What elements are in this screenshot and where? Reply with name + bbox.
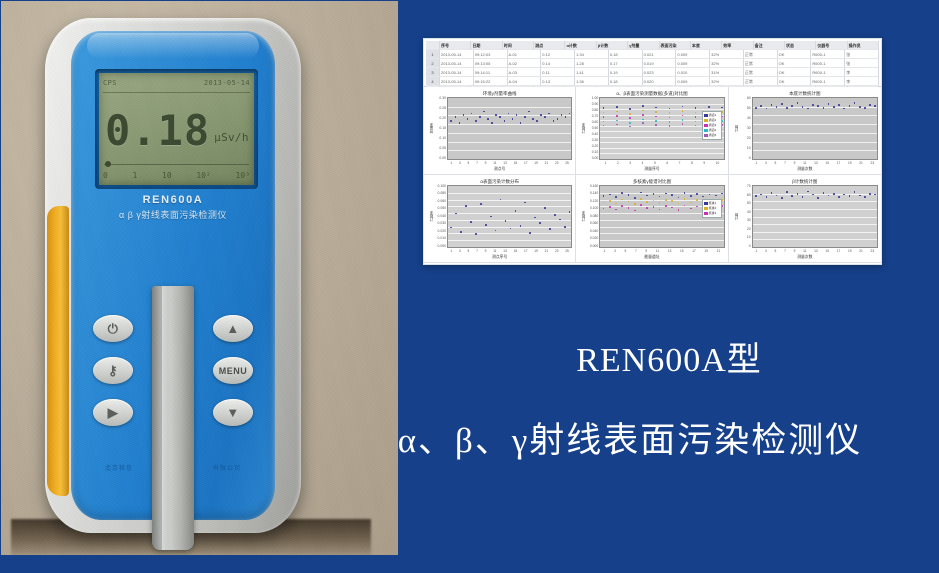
table-cell: 正常 bbox=[744, 59, 778, 68]
chart-data-point bbox=[653, 200, 655, 202]
chart-data-point bbox=[642, 110, 644, 112]
chart-x-axis-label: 测量序号 bbox=[579, 166, 724, 172]
chart-data-point bbox=[565, 116, 567, 118]
down-button[interactable]: ▼ bbox=[213, 399, 253, 426]
x-tick-label: 11 bbox=[803, 161, 806, 165]
x-tick-label: 1 bbox=[450, 249, 452, 253]
chart-x-axis-label: 测点号 bbox=[427, 166, 572, 172]
lcd-value: 0.18 bbox=[105, 111, 210, 151]
chart-y-ticks: 0.1600.1400.1200.1000.0800.0600.0400.020… bbox=[586, 185, 599, 248]
lcd-scale: 0 1 10 10² 10³ bbox=[103, 171, 250, 183]
chart-x-axis-label: 测点序号 bbox=[427, 254, 572, 260]
chart-data-point bbox=[755, 107, 757, 109]
chart-data-point bbox=[634, 197, 636, 199]
x-tick-label: 9 bbox=[485, 161, 487, 165]
chart-data-point bbox=[609, 200, 611, 202]
chart-gridline bbox=[448, 133, 571, 134]
table-cell: 测点 bbox=[534, 41, 565, 50]
table-cell: 仪器号 bbox=[816, 41, 847, 50]
chart-panel[interactable]: 多核素γ能谱对比图计数率0.1600.1400.1200.1000.0800.0… bbox=[576, 175, 728, 263]
y-tick-label: 0.40 bbox=[592, 133, 599, 136]
chart-data-point bbox=[653, 206, 655, 208]
table-cell: 正常 bbox=[744, 50, 778, 59]
chart-gridline bbox=[753, 115, 877, 116]
y-tick-label: 0.080 bbox=[590, 215, 599, 218]
chart-data-point bbox=[869, 193, 871, 195]
chart-data-point bbox=[665, 205, 667, 207]
chart-y-ticks: 0.300.250.200.150.100.050.00 bbox=[434, 97, 447, 160]
chart-plot-area: 通道1通道2通道3通道4通道5 bbox=[599, 97, 724, 160]
table-cell: 0.13 bbox=[541, 77, 575, 86]
play-button[interactable]: ▶ bbox=[93, 399, 133, 426]
table-cell: 09:12:03 bbox=[474, 50, 508, 59]
x-tick-label: 15 bbox=[680, 249, 684, 253]
strap-highlight bbox=[162, 286, 170, 550]
chart-data-point bbox=[812, 104, 814, 106]
chart-data-point bbox=[843, 108, 845, 110]
data-table: 序号日期时间测点α计数β计数γ剂量表面污染本底效率备注状态仪器号操作员12013… bbox=[424, 39, 881, 87]
y-tick-label: 50 bbox=[747, 202, 751, 205]
chart-data-point bbox=[669, 112, 671, 114]
chart-body: 计数706050403020100 bbox=[732, 185, 878, 248]
table-cell: 0.18 bbox=[609, 77, 643, 86]
legend-swatch bbox=[704, 134, 708, 137]
legend-swatch bbox=[704, 207, 708, 210]
chart-data-point bbox=[549, 228, 551, 230]
chart-gridline bbox=[600, 142, 723, 143]
y-tick-label: 0.000 bbox=[438, 245, 447, 248]
up-button[interactable]: ▲ bbox=[213, 315, 253, 342]
chart-y-axis-label: 剂量率 bbox=[427, 97, 434, 160]
chart-data-point bbox=[682, 106, 684, 108]
table-cell: 张 bbox=[845, 59, 879, 68]
x-tick-label: 13 bbox=[814, 161, 818, 165]
chart-data-point bbox=[515, 210, 517, 212]
y-tick-label: 60 bbox=[747, 194, 751, 197]
table-cell: 09:14:11 bbox=[474, 68, 508, 77]
chart-data-point bbox=[682, 110, 684, 112]
lcd-status-left: CPS bbox=[103, 79, 117, 87]
x-tick-label: 17 bbox=[524, 161, 528, 165]
table-header-row: 序号日期时间测点α计数β计数γ剂量表面污染本底效率备注状态仪器号操作员 bbox=[426, 41, 879, 50]
chart-data-point bbox=[557, 118, 559, 120]
chart-data-point bbox=[833, 193, 835, 195]
chart-data-point bbox=[465, 205, 467, 207]
table-row-index: 3 bbox=[426, 68, 440, 77]
chart-data-point bbox=[603, 112, 605, 114]
chart-gridline bbox=[600, 227, 723, 228]
chart-data-point bbox=[874, 105, 876, 107]
x-tick-label: 13 bbox=[503, 161, 507, 165]
chart-data-point bbox=[634, 210, 636, 212]
chart-data-point bbox=[553, 120, 555, 122]
chart-data-point bbox=[628, 194, 630, 196]
chart-data-point bbox=[807, 108, 809, 110]
chart-x-axis-label: 测量次数 bbox=[732, 254, 878, 260]
faceplate-highlight bbox=[87, 33, 258, 59]
chevron-down-icon: ▼ bbox=[226, 406, 239, 419]
menu-button-label: MENU bbox=[219, 366, 248, 376]
lcd-scale-tick: 10³ bbox=[236, 171, 250, 183]
chart-data-point bbox=[475, 233, 477, 235]
chart-data-point bbox=[483, 111, 485, 113]
legend-swatch bbox=[704, 212, 708, 215]
x-tick-label: 15 bbox=[514, 249, 518, 253]
chart-plot-area: 核素1核素2核素3 bbox=[599, 185, 724, 248]
chart-data-point bbox=[659, 196, 661, 198]
x-tick-label: 11 bbox=[493, 249, 496, 253]
chart-data-point bbox=[843, 194, 845, 196]
y-tick-label: 0.080 bbox=[438, 192, 447, 195]
chart-gridline bbox=[753, 209, 877, 210]
chart-legend: 通道1通道2通道3通道4通道5 bbox=[702, 111, 722, 140]
table-cell: OK bbox=[778, 50, 812, 59]
chart-panel[interactable]: α、β表面污染测量数据(多道)对比图计数率1.000.900.800.700.6… bbox=[576, 87, 728, 175]
chart-data-point bbox=[669, 125, 671, 127]
x-tick-label: 9 bbox=[794, 249, 796, 253]
y-axis-label-text: 计数 bbox=[733, 125, 738, 132]
y-tick-label: 0 bbox=[749, 245, 751, 248]
x-tick-label: 17 bbox=[524, 249, 528, 253]
table-cell: 32% bbox=[710, 59, 744, 68]
x-tick-label: 11 bbox=[656, 249, 659, 253]
chart-data-point bbox=[564, 226, 566, 228]
x-tick-label: 7 bbox=[784, 249, 786, 253]
chart-data-point bbox=[540, 114, 542, 116]
table-cell: 张 bbox=[845, 50, 879, 59]
y-tick-label: 0.050 bbox=[438, 207, 447, 210]
chart-data-point bbox=[495, 230, 497, 232]
chart-data-point bbox=[690, 195, 692, 197]
table-cell: 2013-05-14 bbox=[440, 77, 474, 86]
chart-data-point bbox=[874, 194, 876, 196]
chart-gridline bbox=[448, 142, 571, 143]
chart-data-point bbox=[690, 208, 692, 210]
y-tick-label: 0.60 bbox=[592, 121, 599, 124]
lcd-scale-tick: 1 bbox=[133, 171, 138, 183]
chart-body: 计数6050403020100 bbox=[732, 97, 878, 160]
x-tick-label: 17 bbox=[692, 249, 696, 253]
x-tick-label: 19 bbox=[534, 161, 538, 165]
y-tick-label: 0.140 bbox=[590, 192, 599, 195]
table-cell: 32% bbox=[710, 77, 744, 86]
chart-data-point bbox=[781, 103, 783, 105]
chart-y-ticks: 1.000.900.800.700.600.500.400.300.200.10… bbox=[586, 97, 599, 160]
y-tick-label: 0.00 bbox=[592, 157, 599, 160]
chart-data-point bbox=[524, 116, 526, 118]
chart-title: 本底计数统计图 bbox=[732, 90, 878, 97]
table-row: 22013-05-1409:13:05A-020.141.280.170.019… bbox=[426, 59, 879, 68]
legend-label: 通道5 bbox=[709, 133, 717, 138]
chart-gridline bbox=[753, 239, 877, 240]
table-cell: 本底 bbox=[691, 41, 722, 50]
chart-data-point bbox=[791, 195, 793, 197]
y-tick-label: 1.00 bbox=[592, 97, 599, 100]
table-cell: 表面污染 bbox=[660, 41, 691, 50]
chart-data-point bbox=[495, 114, 497, 116]
x-tick-label: 15 bbox=[825, 161, 829, 165]
product-photo: CPS 2013-05-14 0.18 µSv/h bbox=[1, 1, 398, 555]
chart-data-point bbox=[460, 231, 462, 233]
lcd-unit: µSv/h bbox=[214, 131, 249, 144]
chart-data-point bbox=[520, 225, 522, 227]
key-button[interactable]: ⚷ bbox=[93, 357, 133, 384]
menu-button[interactable]: MENU bbox=[213, 357, 253, 384]
chart-data-point bbox=[695, 116, 697, 118]
chart-panel[interactable]: 本底计数统计图计数6050403020100135791113151719212… bbox=[729, 87, 881, 175]
chart-gridline bbox=[600, 233, 723, 234]
chart-data-point bbox=[708, 106, 710, 108]
chart-data-point bbox=[678, 197, 680, 199]
chart-data-point bbox=[569, 113, 571, 115]
chart-gridline bbox=[448, 213, 571, 214]
chart-data-point bbox=[659, 209, 661, 211]
chart-data-point bbox=[450, 120, 452, 122]
chart-data-point bbox=[487, 118, 489, 120]
y-tick-label: 0.80 bbox=[592, 109, 599, 112]
x-tick-label: 5 bbox=[468, 161, 470, 165]
radiation-detector-device: CPS 2013-05-14 0.18 µSv/h bbox=[45, 18, 301, 533]
x-tick-label: 5 bbox=[775, 249, 777, 253]
table-cell: 状态 bbox=[785, 41, 816, 50]
y-tick-label: 0.010 bbox=[438, 237, 447, 240]
lcd-bargraph-marker bbox=[105, 161, 111, 167]
chart-data-point bbox=[628, 207, 630, 209]
chart-gridline bbox=[753, 124, 877, 125]
slide-root: CPS 2013-05-14 0.18 µSv/h bbox=[0, 0, 939, 573]
table-cell: R600-1 bbox=[811, 50, 845, 59]
y-tick-label: 0.120 bbox=[590, 200, 599, 203]
y-tick-label: 0.00 bbox=[439, 157, 446, 160]
y-tick-label: 0.30 bbox=[439, 97, 446, 100]
y-tick-label: 0.040 bbox=[438, 215, 447, 218]
chart-data-point bbox=[455, 116, 457, 118]
footer-mark-left: 北京核信 bbox=[105, 463, 133, 472]
table-row: 32013-05-1409:14:11A-030.111.410.190.023… bbox=[426, 68, 879, 77]
chart-data-point bbox=[695, 112, 697, 114]
chart-data-point bbox=[629, 117, 631, 119]
chart-data-point bbox=[642, 105, 644, 107]
y-tick-label: 0.90 bbox=[592, 103, 599, 106]
legend-swatch bbox=[704, 202, 708, 205]
chart-data-point bbox=[640, 204, 642, 206]
table-cell: 效率 bbox=[722, 41, 753, 50]
right-panel: 序号日期时间测点α计数β计数γ剂量表面污染本底效率备注状态仪器号操作员12013… bbox=[399, 0, 939, 573]
chart-gridline bbox=[448, 220, 571, 221]
table-cell: A-02 bbox=[508, 59, 542, 68]
power-button[interactable]: ⏻ bbox=[93, 315, 133, 342]
chart-title: 环境γ剂量率曲线 bbox=[427, 90, 572, 97]
x-tick-label: 21 bbox=[545, 249, 549, 253]
table-cell: 日期 bbox=[471, 41, 502, 50]
table-cell: α计数 bbox=[565, 41, 596, 50]
chart-data-point bbox=[781, 197, 783, 199]
chart-data-point bbox=[690, 202, 692, 204]
chart-data-point bbox=[646, 201, 648, 203]
chart-panel[interactable]: 环境γ剂量率曲线剂量率0.300.250.200.150.100.050.001… bbox=[424, 87, 576, 175]
chart-data-point bbox=[859, 106, 861, 108]
chart-gridline bbox=[448, 107, 571, 108]
chart-data-point bbox=[838, 104, 840, 106]
chart-gridline bbox=[600, 220, 723, 221]
y-tick-label: 50 bbox=[747, 107, 751, 110]
x-tick-label: 1 bbox=[756, 249, 758, 253]
lcd-scale-tick: 10² bbox=[196, 171, 210, 183]
x-tick-label: 21 bbox=[859, 249, 863, 253]
x-tick-label: 3 bbox=[614, 249, 616, 253]
chart-y-axis-label: 计数率 bbox=[579, 97, 586, 160]
chart-title: β计数统计图 bbox=[732, 178, 878, 185]
chart-data-point bbox=[646, 195, 648, 197]
x-tick-label: 23 bbox=[871, 161, 875, 165]
table-cell: OK bbox=[778, 68, 812, 77]
chart-gridline bbox=[448, 150, 571, 151]
chart-data-point bbox=[760, 105, 762, 107]
table-cell: 0.18 bbox=[609, 50, 643, 59]
chart-y-axis-label: 计数率 bbox=[579, 185, 586, 248]
chart-legend: 核素1核素2核素3 bbox=[702, 199, 722, 218]
y-tick-label: 0.030 bbox=[438, 222, 447, 225]
lcd-scale-tick: 0 bbox=[103, 171, 108, 183]
chart-data-point bbox=[459, 122, 461, 124]
chart-data-point bbox=[655, 124, 657, 126]
table-cell: 正常 bbox=[744, 77, 778, 86]
x-tick-label: 23 bbox=[555, 249, 559, 253]
chart-gridline bbox=[448, 240, 571, 241]
chart-data-point bbox=[615, 209, 617, 211]
chart-data-point bbox=[802, 196, 804, 198]
chart-data-point bbox=[646, 207, 648, 209]
chart-gridline bbox=[753, 217, 877, 218]
chart-data-point bbox=[470, 221, 472, 223]
chart-x-axis-label: 测量次数 bbox=[732, 166, 878, 172]
chart-data-point bbox=[665, 199, 667, 201]
chart-data-point bbox=[554, 214, 556, 216]
lcd-status-right: 2013-05-14 bbox=[204, 79, 250, 87]
chart-gridline bbox=[448, 124, 571, 125]
chart-data-point bbox=[603, 195, 605, 197]
table-cell: 李 bbox=[845, 68, 879, 77]
chart-data-point bbox=[828, 195, 830, 197]
x-tick-label: 9 bbox=[645, 249, 647, 253]
product-title-model: REN600A型 bbox=[399, 332, 939, 381]
chart-data-point bbox=[678, 209, 680, 211]
chart-data-point bbox=[490, 216, 492, 218]
y-axis-label-text: 剂量率 bbox=[428, 123, 433, 134]
chart-data-point bbox=[634, 203, 636, 205]
chart-data-point bbox=[771, 104, 773, 106]
x-tick-label: 15 bbox=[825, 249, 829, 253]
x-tick-label: 3 bbox=[629, 161, 631, 165]
table-row: 12013-05-1409:12:03A-010.121.340.180.021… bbox=[426, 50, 879, 59]
chart-data-point bbox=[838, 196, 840, 198]
table-cell: 李 bbox=[845, 77, 879, 86]
chart-gridline bbox=[753, 232, 877, 233]
table-cell: 0.021 bbox=[643, 50, 677, 59]
x-tick-label: 13 bbox=[668, 249, 672, 253]
chart-data-point bbox=[766, 108, 768, 110]
chart-gridline bbox=[753, 133, 877, 134]
product-title-description: α、β、γ射线表面污染检测仪 bbox=[321, 412, 939, 463]
table-cell: 0.19 bbox=[609, 68, 643, 77]
chart-data-point bbox=[655, 116, 657, 118]
x-tick-label: 19 bbox=[704, 249, 708, 253]
y-tick-label: 20 bbox=[747, 137, 751, 140]
x-tick-label: 1 bbox=[756, 161, 758, 165]
chart-panel[interactable]: α表面污染计数分布计数率0.1000.0800.0600.0500.0400.0… bbox=[424, 175, 576, 263]
x-tick-label: 25 bbox=[565, 249, 569, 253]
y-tick-label: 0.060 bbox=[590, 222, 599, 225]
chart-data-point bbox=[849, 105, 851, 107]
chart-data-point bbox=[479, 116, 481, 118]
chart-gridline bbox=[600, 193, 723, 194]
chart-data-point bbox=[499, 116, 501, 118]
chart-data-point bbox=[536, 120, 538, 122]
chart-data-point bbox=[510, 228, 512, 230]
y-tick-label: 10 bbox=[747, 236, 751, 239]
x-tick-label: 7 bbox=[635, 249, 637, 253]
y-tick-label: 60 bbox=[747, 97, 751, 100]
x-tick-label: 1 bbox=[604, 249, 606, 253]
y-tick-label: 0.100 bbox=[590, 207, 599, 210]
table-cell: 0.019 bbox=[643, 59, 677, 68]
chart-data-point bbox=[616, 111, 618, 113]
chart-data-point bbox=[823, 192, 825, 194]
device-model-label: REN600A bbox=[71, 194, 275, 206]
chart-data-point bbox=[833, 106, 835, 108]
chart-data-point bbox=[609, 194, 611, 196]
x-tick-label: 9 bbox=[703, 161, 705, 165]
x-tick-label: 8 bbox=[691, 161, 693, 165]
chart-data-point bbox=[629, 122, 631, 124]
table-cell: 0.009 bbox=[676, 50, 710, 59]
lcd-divider bbox=[103, 92, 250, 93]
key-icon: ⚷ bbox=[108, 364, 118, 377]
x-tick-label: 7 bbox=[784, 161, 786, 165]
chart-data-point bbox=[629, 126, 631, 128]
play-icon: ▶ bbox=[108, 406, 119, 419]
y-tick-label: 0.020 bbox=[438, 230, 447, 233]
chart-gridline bbox=[753, 224, 877, 225]
chart-data-point bbox=[702, 196, 704, 198]
table-row-index bbox=[426, 41, 440, 50]
chart-data-point bbox=[534, 217, 536, 219]
table-cell: 09:15:22 bbox=[474, 77, 508, 86]
chart-body: 计数率1.000.900.800.700.600.500.400.300.200… bbox=[579, 97, 724, 160]
chart-data-point bbox=[640, 198, 642, 200]
chart-data-point bbox=[859, 195, 861, 197]
y-tick-label: 0.20 bbox=[592, 145, 599, 148]
table-cell: 1.41 bbox=[575, 68, 609, 77]
chart-data-point bbox=[817, 105, 819, 107]
chart-gridline bbox=[600, 109, 723, 110]
chart-panel[interactable]: β计数统计图计数70605040302010013579111315171921… bbox=[729, 175, 881, 263]
table-row-index: 4 bbox=[426, 77, 440, 86]
chart-data-point bbox=[655, 120, 657, 122]
chart-plot-area bbox=[752, 185, 878, 248]
chart-data-point bbox=[485, 224, 487, 226]
device-subtitle-label: α β γ射线表面污染检测仪 bbox=[71, 208, 275, 221]
table-cell: 备注 bbox=[754, 41, 785, 50]
y-axis-label-text: 计数率 bbox=[580, 123, 585, 134]
legend-item: 通道5 bbox=[704, 133, 720, 138]
chart-data-point bbox=[615, 203, 617, 205]
table-cell: 09:13:05 bbox=[474, 59, 508, 68]
x-tick-label: 7 bbox=[476, 161, 478, 165]
chart-data-point bbox=[642, 122, 644, 124]
x-tick-label: 13 bbox=[503, 249, 507, 253]
y-tick-label: 0.040 bbox=[590, 230, 599, 233]
